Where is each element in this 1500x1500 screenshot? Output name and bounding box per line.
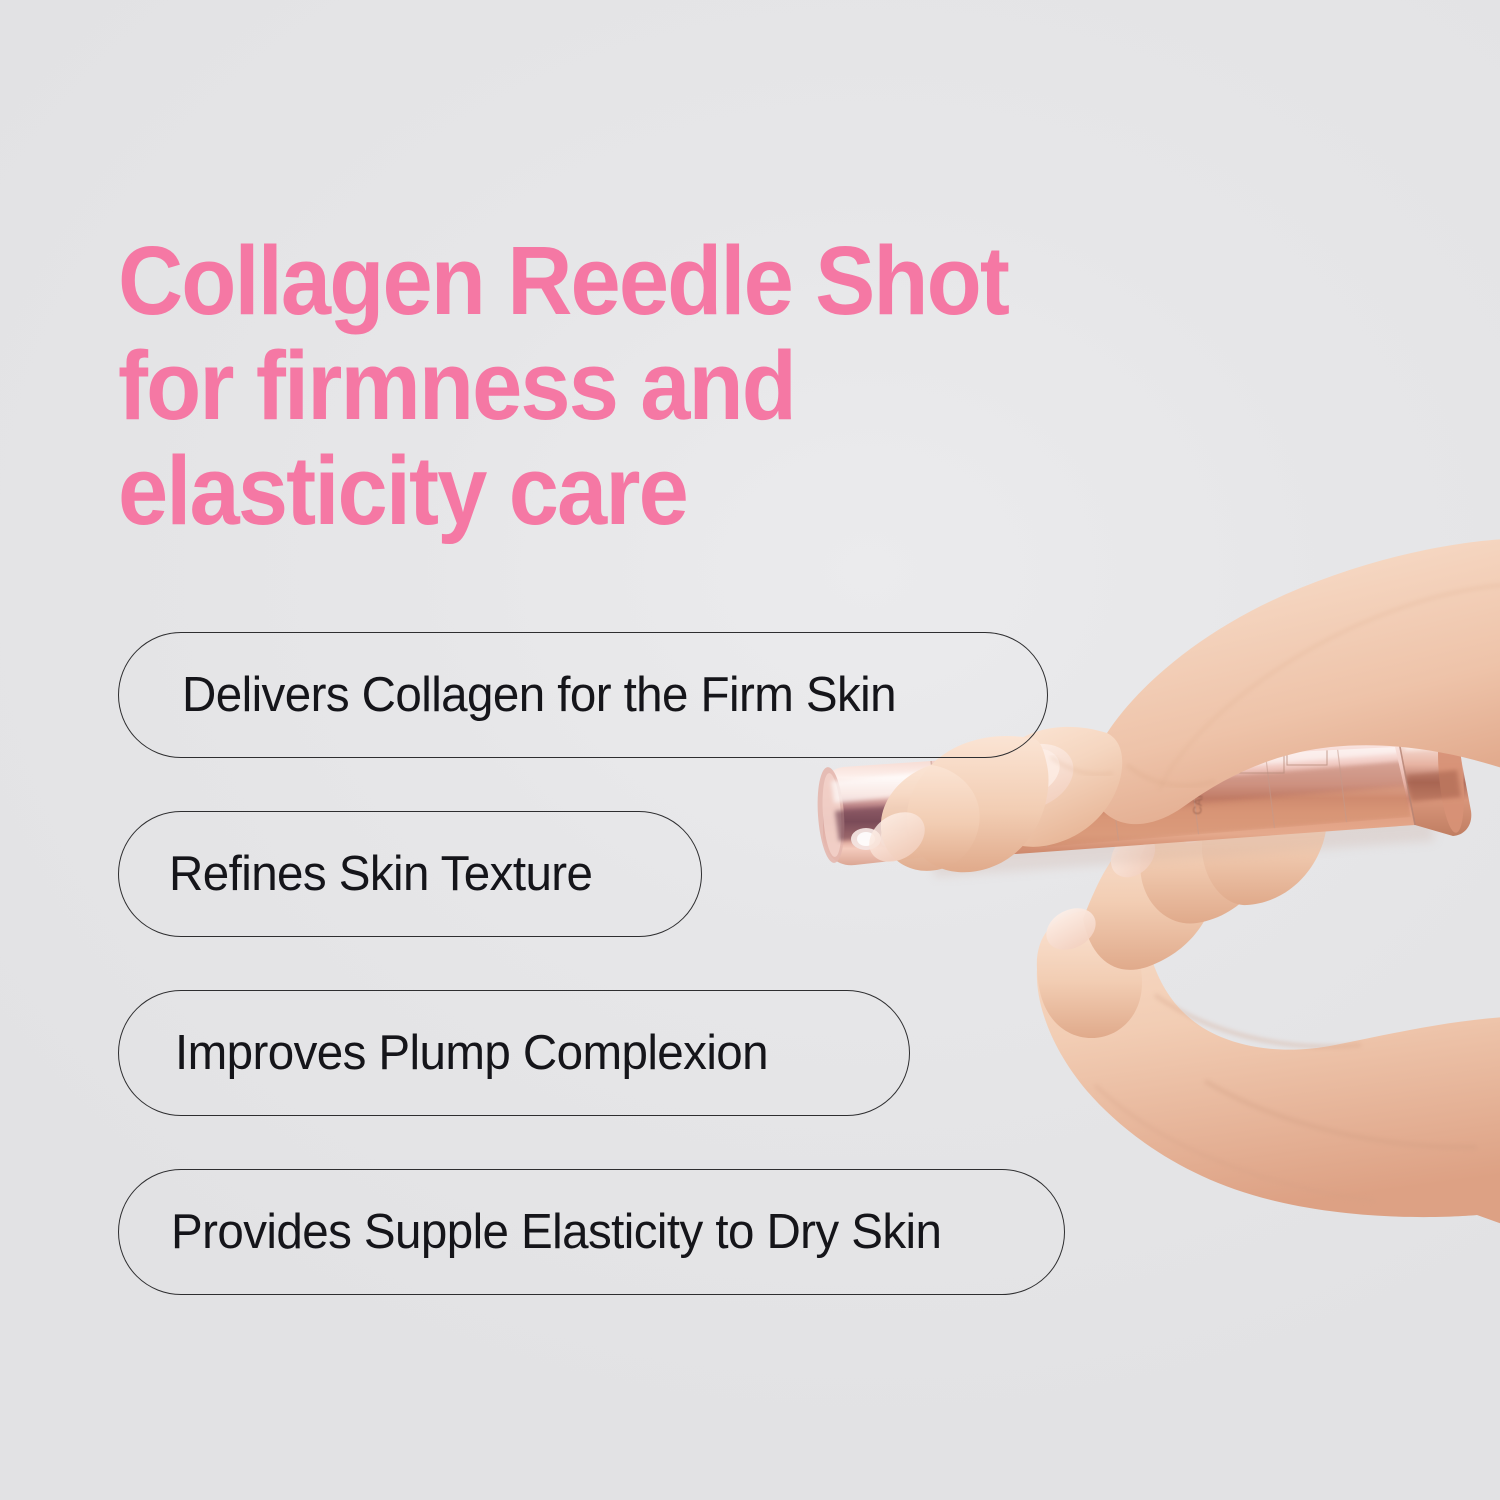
benefit-pill: Improves Plump Complexion <box>118 990 910 1116</box>
benefit-pill-label: Delivers Collagen for the Firm Skin <box>182 667 896 723</box>
benefit-pill: Delivers Collagen for the Firm Skin <box>118 632 1048 758</box>
page-title: Collagen Reedle Shot for firmness and el… <box>118 228 1048 543</box>
product-marketing-banner: EN SSHOT 001 TM 50 mL CARE <box>0 0 1500 1500</box>
benefit-pill-label: Provides Supple Elasticity to Dry Skin <box>171 1204 941 1260</box>
benefit-pill-label: Improves Plump Complexion <box>175 1025 768 1081</box>
benefit-pill: Refines Skin Texture <box>118 811 702 937</box>
benefit-pill: Provides Supple Elasticity to Dry Skin <box>118 1169 1065 1295</box>
benefit-pill-label: Refines Skin Texture <box>169 846 592 902</box>
